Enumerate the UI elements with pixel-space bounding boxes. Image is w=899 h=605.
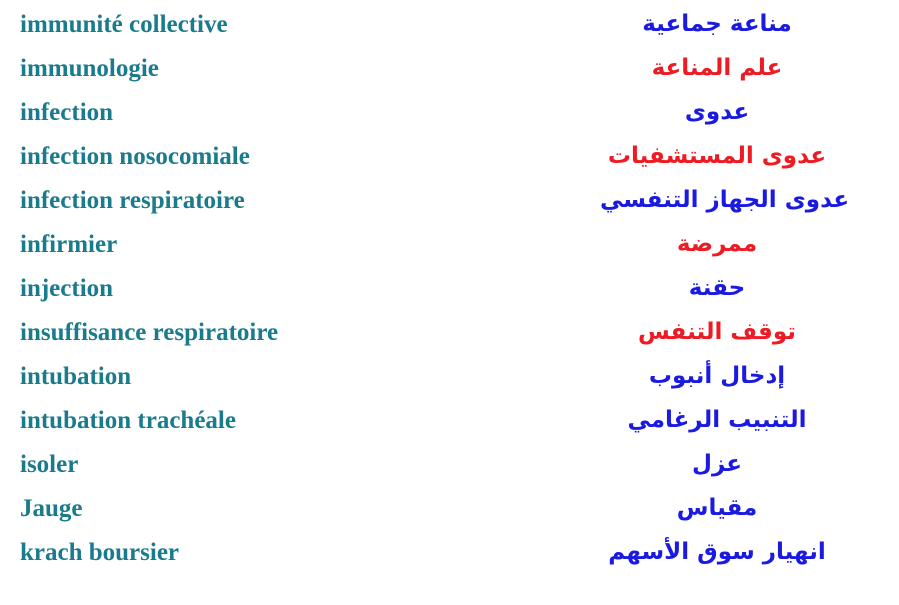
arabic-term: مناعة جماعية [600,11,899,37]
french-term: immunité collective [0,12,600,37]
arabic-term: عدوى المستشفيات [600,143,899,169]
glossary-row: Jaugeمقياس [0,486,899,530]
glossary-row: krach boursierانهيار سوق الأسهم [0,530,899,574]
glossary-row: immunologieعلم المناعة [0,46,899,90]
glossary-row: infection respiratoireعدوى الجهاز التنفس… [0,178,899,222]
french-term: immunologie [0,56,600,81]
french-term: insuffisance respiratoire [0,320,600,345]
glossary-row: immunité collectiveمناعة جماعية [0,2,899,46]
french-term: krach boursier [0,540,600,565]
french-term: Jauge [0,496,600,521]
arabic-term: توقف التنفس [600,319,899,345]
glossary-row: intubation trachéaleالتنبيب الرغامي [0,398,899,442]
arabic-term: حقنة [600,275,899,301]
arabic-term: ممرضة [600,231,899,257]
glossary-row: isolerعزل [0,442,899,486]
glossary-row: insuffisance respiratoireتوقف التنفس [0,310,899,354]
arabic-term: عدوى [600,99,899,125]
french-term: intubation [0,364,600,389]
arabic-term: إدخال أنبوب [600,363,899,389]
french-term: infirmier [0,232,600,257]
glossary-table: immunité collectiveمناعة جماعيةimmunolog… [0,0,899,605]
glossary-row: intubationإدخال أنبوب [0,354,899,398]
glossary-row: infection nosocomialeعدوى المستشفيات [0,134,899,178]
arabic-term: عزل [600,451,899,477]
arabic-term: انهيار سوق الأسهم [600,539,899,565]
glossary-row: infectionعدوى [0,90,899,134]
arabic-term: علم المناعة [600,55,899,81]
french-term: isoler [0,452,600,477]
arabic-term: مقياس [600,495,899,521]
glossary-row: infirmierممرضة [0,222,899,266]
french-term: infection [0,100,600,125]
french-term: intubation trachéale [0,408,600,433]
french-term: infection respiratoire [0,188,600,213]
french-term: injection [0,276,600,301]
arabic-term: عدوى الجهاز التنفسي [600,187,899,213]
glossary-row: injectionحقنة [0,266,899,310]
french-term: infection nosocomiale [0,144,600,169]
arabic-term: التنبيب الرغامي [600,407,899,433]
